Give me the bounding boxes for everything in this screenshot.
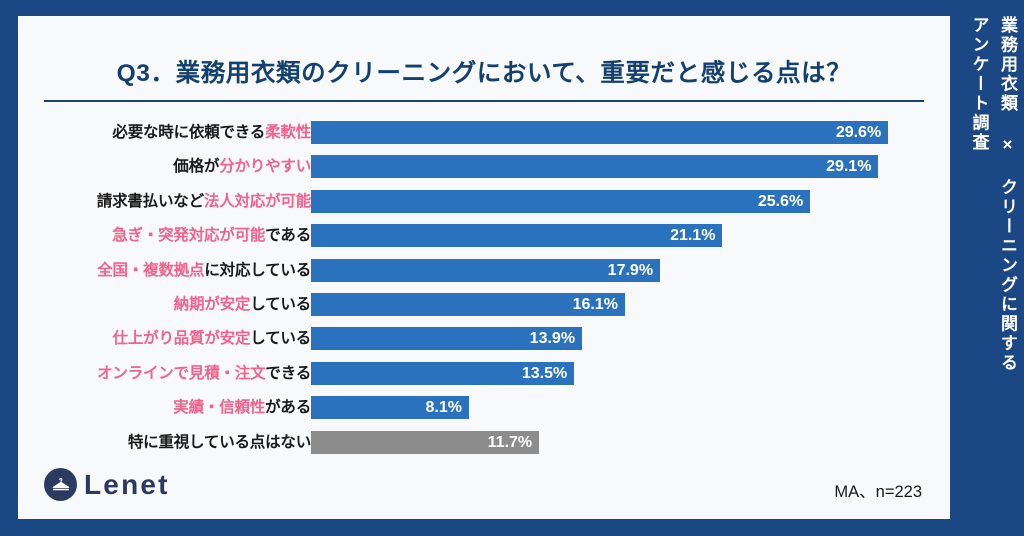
label-plain-text: できる <box>265 365 311 382</box>
label-highlight-text: 仕上がり品質が安定 <box>113 330 251 347</box>
brand-logo: Lenet <box>44 468 170 501</box>
label-highlight-text: 柔軟性 <box>265 124 311 141</box>
chart-row: 納期が安定している16.1% <box>18 288 950 322</box>
chart-row: オンラインで見積・注文できる13.5% <box>18 357 950 391</box>
bar-track: 8.1% <box>311 396 950 419</box>
bar-track: 13.9% <box>311 327 950 350</box>
bar-chart: 必要な時に依頼できる柔軟性29.6%価格が分かりやすい29.1%請求書払いなど法… <box>18 116 950 460</box>
slide-root: Q3．業務用衣類のクリーニングにおいて、重要だと感じる点は？ 必要な時に依頼でき… <box>0 0 1024 536</box>
chart-row: 実績・信頼性がある8.1% <box>18 391 950 425</box>
bar: 8.1% <box>311 396 469 419</box>
bar-value-label: 25.6% <box>758 190 803 213</box>
bar-track: 29.6% <box>311 121 950 144</box>
chart-row: 価格が分かりやすい29.1% <box>18 150 950 184</box>
bar-value-label: 13.9% <box>530 327 575 350</box>
sample-size-note: MA、n=223 <box>834 478 922 502</box>
title-divider <box>44 100 924 102</box>
bar-track: 21.1% <box>311 224 950 247</box>
page-title: Q3．業務用衣類のクリーニングにおいて、重要だと感じる点は？ <box>18 54 950 89</box>
chart-row: 急ぎ・突発対応が可能である21.1% <box>18 219 950 253</box>
bar-value-label: 21.1% <box>670 224 715 247</box>
label-plain-text: である <box>265 227 311 244</box>
bar-category-label: オンラインで見積・注文できる <box>97 362 311 385</box>
label-highlight-text: 分かりやすい <box>219 158 311 175</box>
label-highlight-text: 納期が安定 <box>174 296 251 313</box>
bar-category-label: 特に重視している点はない <box>128 431 311 454</box>
chart-row: 全国・複数拠点に対応している17.9% <box>18 254 950 288</box>
label-plain-text: に対応している <box>204 262 311 279</box>
side-banner-line-1: 業務用衣類 × クリーニングに関する <box>995 16 1021 373</box>
label-plain-text: している <box>250 330 311 347</box>
clothes-hanger-icon <box>44 468 77 501</box>
bar-category-label: 急ぎ・突発対応が可能である <box>112 224 311 247</box>
bar-track: 25.6% <box>311 190 950 213</box>
bar-value-label: 8.1% <box>425 396 461 419</box>
bar-value-label: 13.5% <box>522 362 567 385</box>
bar-track: 11.7% <box>311 431 950 454</box>
label-plain-text: がある <box>265 399 311 416</box>
brand-name: Lenet <box>84 469 170 501</box>
bar-category-label: 納期が安定している <box>174 293 311 316</box>
label-highlight-text: 法人対応が可能 <box>204 193 311 210</box>
bar-track: 13.5% <box>311 362 950 385</box>
bar-category-label: 必要な時に依頼できる柔軟性 <box>112 121 311 144</box>
chart-row: 仕上がり品質が安定している13.9% <box>18 322 950 356</box>
bar: 25.6% <box>311 190 810 213</box>
label-plain-text: 請求書払いなど <box>97 193 204 210</box>
label-highlight-text: 急ぎ・突発対応が可能 <box>112 227 265 244</box>
bar-value-label: 29.6% <box>836 121 881 144</box>
chart-row: 特に重視している点はない11.7% <box>18 426 950 460</box>
bar: 16.1% <box>311 293 625 316</box>
label-plain-text: 必要な時に依頼できる <box>112 124 265 141</box>
bar-category-label: 全国・複数拠点に対応している <box>97 259 311 282</box>
bar: 11.7% <box>311 431 539 454</box>
label-highlight-text: オンラインで見積・注文 <box>97 365 265 382</box>
side-banner: 業務用衣類 × クリーニングに関する アンケート調査 <box>950 0 1024 536</box>
bar-category-label: 価格が分かりやすい <box>173 155 311 178</box>
content-panel: Q3．業務用衣類のクリーニングにおいて、重要だと感じる点は？ 必要な時に依頼でき… <box>18 16 950 519</box>
bar-track: 29.1% <box>311 155 950 178</box>
label-plain-text: 特に重視している点はない <box>128 434 311 451</box>
label-highlight-text: 実績・信頼性 <box>173 399 265 416</box>
bar: 13.9% <box>311 327 582 350</box>
bar-category-label: 仕上がり品質が安定している <box>113 327 311 350</box>
label-highlight-text: 全国・複数拠点 <box>97 262 204 279</box>
bar: 17.9% <box>311 259 660 282</box>
bar-value-label: 17.9% <box>608 259 653 282</box>
bar-track: 16.1% <box>311 293 950 316</box>
chart-row: 請求書払いなど法人対応が可能25.6% <box>18 185 950 219</box>
bar-track: 17.9% <box>311 259 950 282</box>
bar: 29.1% <box>311 155 878 178</box>
bar-value-label: 11.7% <box>488 431 532 454</box>
bar-category-label: 実績・信頼性がある <box>173 396 311 419</box>
bar-category-label: 請求書払いなど法人対応が可能 <box>97 190 311 213</box>
label-plain-text: している <box>250 296 311 313</box>
side-banner-line-2: アンケート調査 <box>966 16 992 153</box>
chart-row: 必要な時に依頼できる柔軟性29.6% <box>18 116 950 150</box>
label-plain-text: 価格が <box>173 158 219 175</box>
bar-value-label: 29.1% <box>826 155 871 178</box>
bar: 13.5% <box>311 362 574 385</box>
bar: 29.6% <box>311 121 888 144</box>
bar-value-label: 16.1% <box>573 293 618 316</box>
bar: 21.1% <box>311 224 722 247</box>
